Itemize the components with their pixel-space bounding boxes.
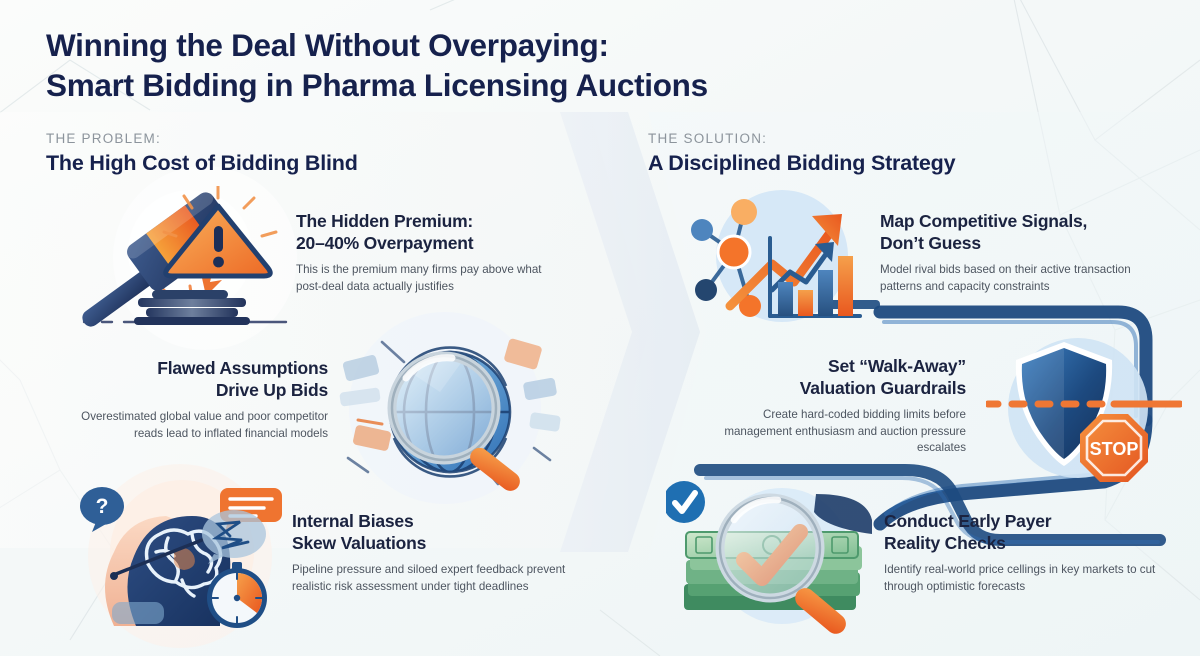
stop-sign-label: STOP (1090, 439, 1139, 459)
solution-item-3-title-line2: Reality Checks (884, 533, 1166, 555)
problem-item-1-title-line2: 20–40% Overpayment (296, 233, 568, 255)
money-magnifier-check-icon (666, 476, 882, 634)
solution-item-1-title-line2: Don’t Guess (880, 233, 1170, 255)
network-barchart-growth-icon (672, 186, 878, 332)
solution-item-3-text: Conduct Early Payer Reality Checks Ident… (884, 511, 1166, 595)
solution-item-2-text: Set “Walk-Away” Valuation Guardrails Cre… (694, 356, 966, 457)
problem-item-1-title-line1: The Hidden Premium: (296, 211, 568, 233)
solution-item-3-body: Identify real-world price cellings in ke… (884, 562, 1166, 596)
solution-item-1-title-line1: Map Competitive Signals, (880, 211, 1170, 233)
problem-item-3-text: Internal Biases Skew Valuations Pipeline… (292, 511, 570, 595)
problem-item-3-body: Pipeline pressure and siloed expert feed… (292, 562, 570, 596)
solution-item-2-title-line2: Valuation Guardrails (694, 378, 966, 400)
head-brain-bias-icon: ? (70, 476, 294, 634)
shield-stop-icon: STOP (986, 330, 1182, 490)
problem-eyebrow: THE PROBLEM: (46, 130, 358, 148)
problem-item-3-title-line2: Skew Valuations (292, 533, 570, 555)
problem-item-3-title-line1: Internal Biases (292, 511, 570, 533)
page-title: Winning the Deal Without Overpaying: Sma… (46, 26, 886, 105)
solution-item-2-title-line1: Set “Walk-Away” (694, 356, 966, 378)
svg-text:?: ? (96, 495, 109, 518)
solution-item-2-body: Create hard-coded bidding limits before … (694, 407, 966, 457)
solution-item-1-body: Model rival bids based on their active t… (880, 262, 1170, 296)
problem-item-1-text: The Hidden Premium: 20–40% Overpayment T… (296, 211, 568, 295)
problem-item-2-title-line1: Flawed Assumptions (72, 358, 328, 380)
solution-heading: A Disciplined Bidding Strategy (648, 151, 955, 176)
problem-item-1-body: This is the premium many firms pay above… (296, 262, 568, 296)
problem-item-2-text: Flawed Assumptions Drive Up Bids Overest… (72, 358, 328, 442)
title-line-2: Smart Bidding in Pharma Licensing Auctio… (46, 66, 886, 106)
problem-column-header: THE PROBLEM: The High Cost of Bidding Bl… (46, 130, 358, 176)
globe-magnifier-icon (338, 336, 570, 492)
solution-item-1-text: Map Competitive Signals, Don’t Guess Mod… (880, 211, 1170, 295)
problem-heading: The High Cost of Bidding Blind (46, 151, 358, 176)
solution-item-3-title-line1: Conduct Early Payer (884, 511, 1166, 533)
solution-eyebrow: THE SOLUTION: (648, 130, 955, 148)
gavel-warning-icon (72, 186, 292, 332)
solution-column-header: THE SOLUTION: A Disciplined Bidding Stra… (648, 130, 955, 176)
title-line-1: Winning the Deal Without Overpaying: (46, 26, 886, 66)
problem-item-2-title-line2: Drive Up Bids (72, 380, 328, 402)
problem-item-2-body: Overestimated global value and poor comp… (72, 409, 328, 443)
